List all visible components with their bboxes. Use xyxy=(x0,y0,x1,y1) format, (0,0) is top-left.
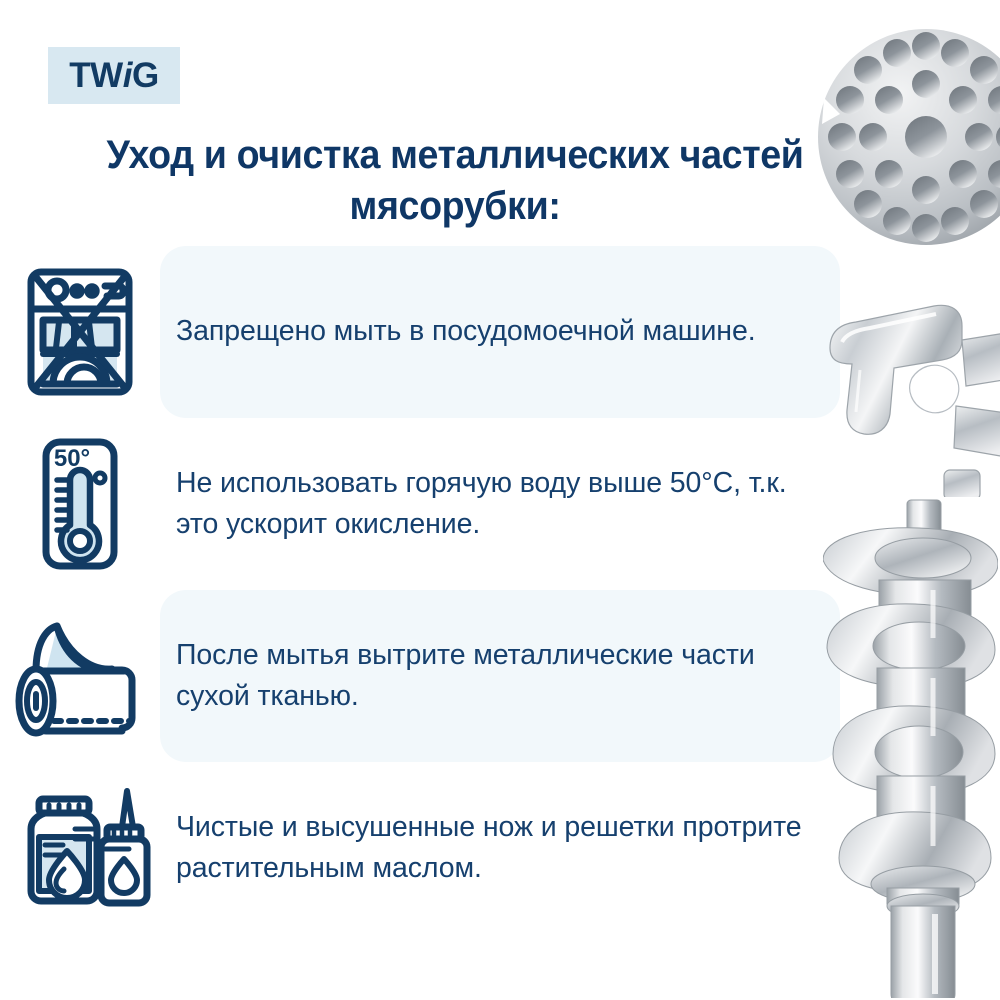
brand-logo-text: TWiG xyxy=(69,58,158,93)
instruction-text: Запрещено мыть в посудомоечной машине. xyxy=(160,311,774,352)
no-dishwasher-icon xyxy=(0,262,160,402)
instruction-card: Чистые и высушенные нож и решетки протри… xyxy=(160,762,840,934)
grinder-plate-photo xyxy=(818,22,1000,257)
instruction-text: После мытья вытрите металлические части … xyxy=(160,635,840,718)
page-title: Уход и очистка металлических частей мясо… xyxy=(84,130,827,232)
brand-logo-part-1: TW xyxy=(69,56,122,95)
list-item: 50° Не использовать горячую воду выше 50… xyxy=(0,418,870,590)
instruction-card: Запрещено мыть в посудомоечной машине. xyxy=(160,246,840,418)
care-instructions-list: Запрещено мыть в посудомоечной машине. xyxy=(0,246,870,934)
list-item: После мытья вытрите металлические части … xyxy=(0,590,870,762)
list-item: Запрещено мыть в посудомоечной машине. xyxy=(0,246,870,418)
thermometer-label: 50° xyxy=(54,445,90,472)
brand-logo-part-italic: i xyxy=(123,56,132,95)
instruction-card: Не использовать горячую воду выше 50°С, … xyxy=(160,418,840,590)
instruction-text: Не использовать горячую воду выше 50°С, … xyxy=(160,463,840,546)
brand-logo: TWiG xyxy=(48,47,180,104)
list-item: Чистые и высушенные нож и решетки протри… xyxy=(0,762,870,934)
brand-logo-part-2: G xyxy=(132,56,159,95)
instruction-card: После мытья вытрите металлические части … xyxy=(160,590,840,762)
oil-bottles-icon xyxy=(0,785,160,911)
instruction-text: Чистые и высушенные нож и решетки протри… xyxy=(160,807,840,890)
thermometer-50-icon: 50° xyxy=(0,434,160,574)
cloth-roll-icon xyxy=(0,613,160,739)
poster-root: TWiG Уход и очистка металлических частей… xyxy=(0,0,1000,1000)
